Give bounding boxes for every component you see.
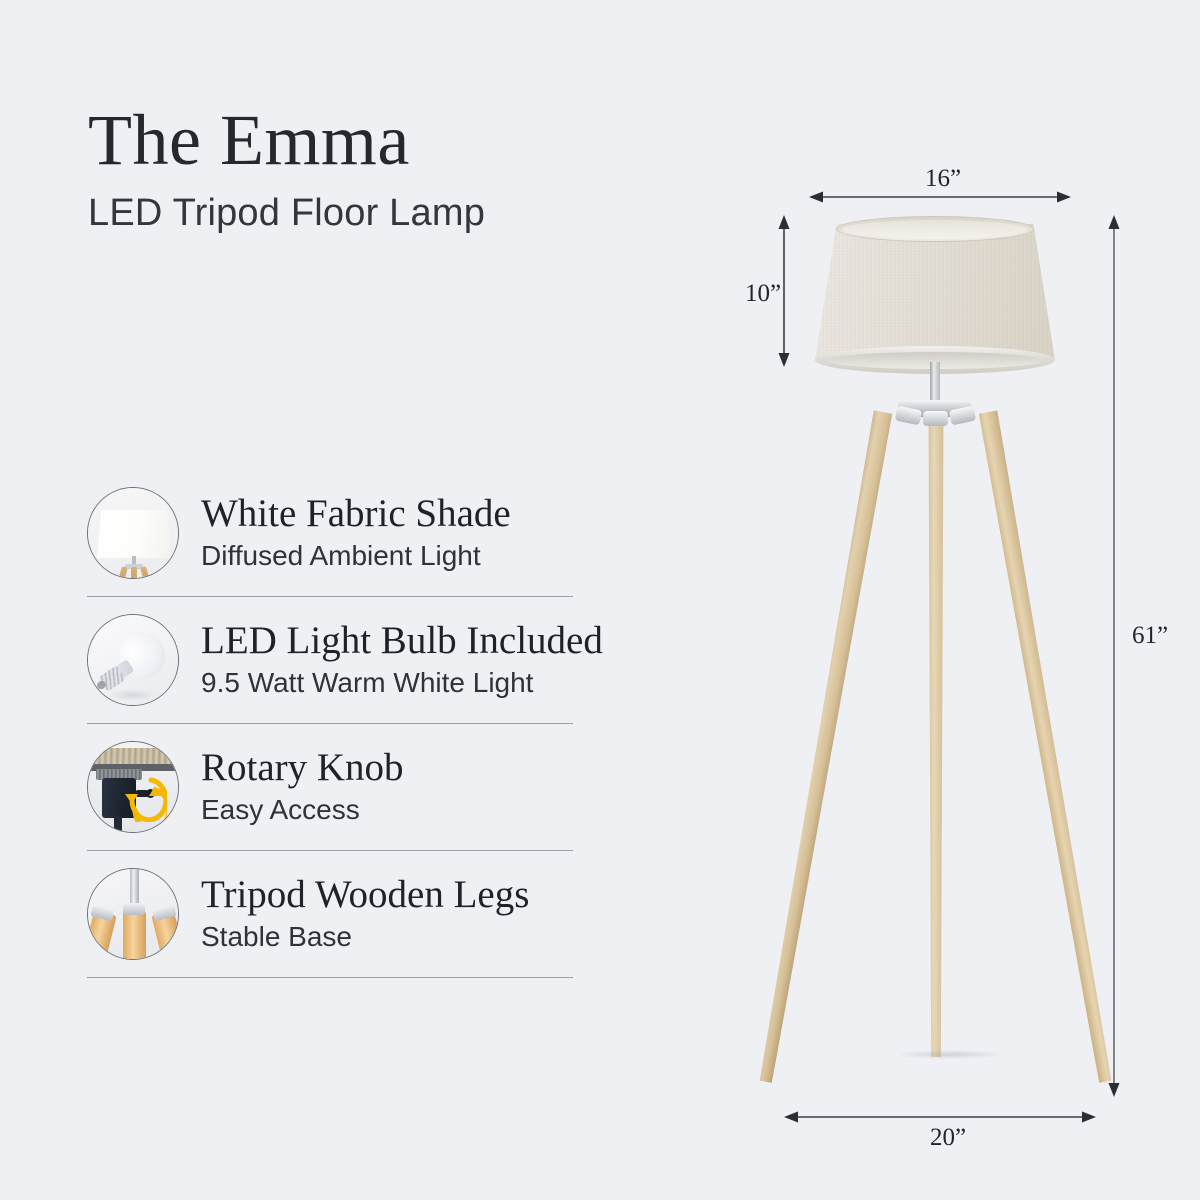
floor-shadow xyxy=(895,1050,1005,1059)
led-bulb-thumbnail-icon xyxy=(87,614,179,706)
lamp-shade-thumbnail-icon xyxy=(87,487,179,579)
tripod-legs-thumbnail-icon xyxy=(87,868,179,960)
dimension-arrow-total-height-61 xyxy=(1105,212,1125,1100)
page-subtitle: LED Tripod Floor Lamp xyxy=(88,192,485,235)
feature-title: LED Light Bulb Included xyxy=(201,621,603,662)
feature-text: LED Light Bulb Included 9.5 Watt Warm Wh… xyxy=(201,621,603,699)
feature-divider xyxy=(87,977,573,978)
lamp-leg-left xyxy=(746,410,895,1083)
lamp-leg-right xyxy=(975,410,1124,1083)
feature-row-white-fabric-shade: White Fabric Shade Diffused Ambient Ligh… xyxy=(87,470,587,596)
feature-row-rotary-knob: Rotary Knob Easy Access xyxy=(87,724,587,850)
feature-title: Tripod Wooden Legs xyxy=(201,875,529,916)
feature-title: Rotary Knob xyxy=(201,748,404,789)
dimension-label-base-width-20: 20” xyxy=(930,1124,966,1152)
feature-subtitle: Easy Access xyxy=(201,794,404,826)
page-title: The Emma xyxy=(88,104,485,176)
collar-cap-center xyxy=(923,411,948,426)
feature-list: White Fabric Shade Diffused Ambient Ligh… xyxy=(87,470,587,978)
infographic-canvas: The Emma LED Tripod Floor Lamp White Fab… xyxy=(0,0,1200,1200)
feature-subtitle: Diffused Ambient Light xyxy=(201,540,511,572)
feature-subtitle: 9.5 Watt Warm White Light xyxy=(201,667,603,699)
feature-text: Tripod Wooden Legs Stable Base xyxy=(201,875,529,953)
dimension-label-width-16: 16” xyxy=(925,165,961,193)
feature-subtitle: Stable Base xyxy=(201,921,529,953)
feature-row-tripod-wooden-legs: Tripod Wooden Legs Stable Base xyxy=(87,851,587,977)
dimension-label-total-height-61: 61” xyxy=(1132,622,1168,650)
dimension-label-shade-height-10: 10” xyxy=(745,280,781,308)
feature-title: White Fabric Shade xyxy=(201,494,511,535)
lamp-leg-center xyxy=(925,412,947,1057)
rotary-knob-thumbnail-icon xyxy=(87,741,179,833)
feature-text: Rotary Knob Easy Access xyxy=(201,748,404,826)
feature-row-led-light-bulb-included: LED Light Bulb Included 9.5 Watt Warm Wh… xyxy=(87,597,587,723)
title-block: The Emma LED Tripod Floor Lamp xyxy=(88,104,485,235)
feature-text: White Fabric Shade Diffused Ambient Ligh… xyxy=(201,494,511,572)
rotation-arrow-icon xyxy=(121,770,167,822)
lamp-shade xyxy=(815,216,1055,366)
